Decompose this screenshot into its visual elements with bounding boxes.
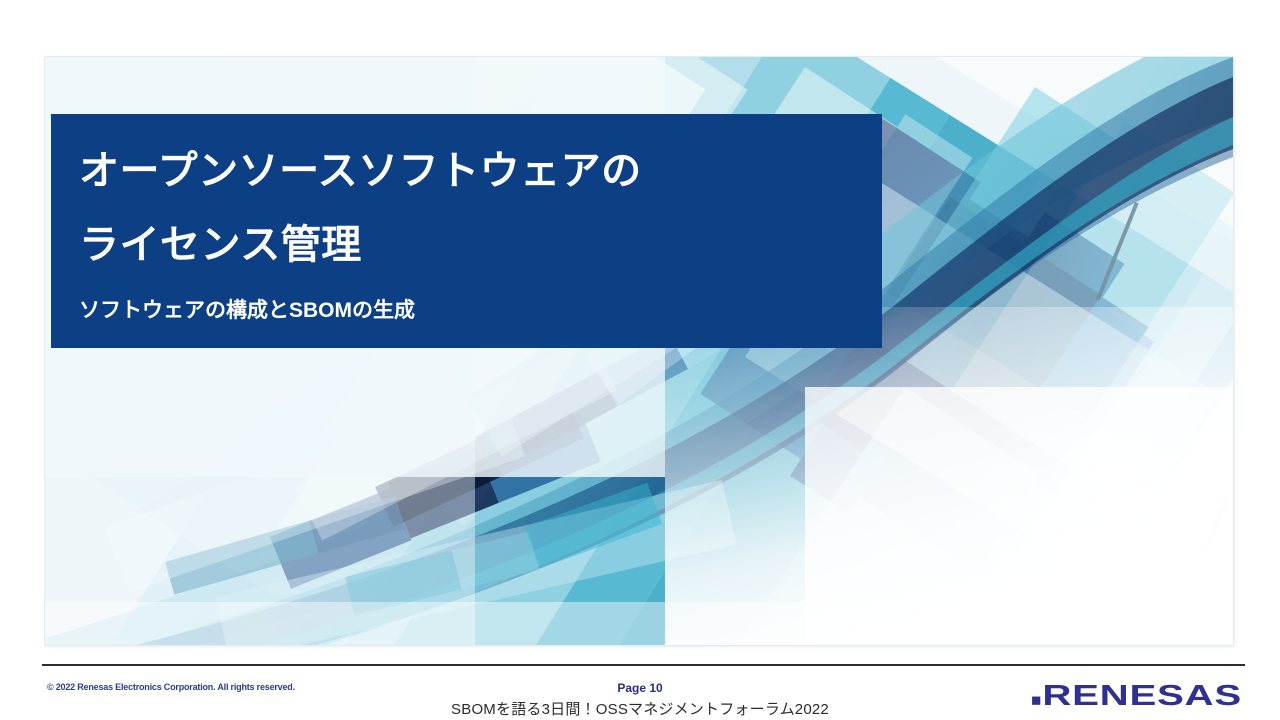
slide-title-line-1: オープンソースソフトウェアの bbox=[79, 134, 864, 208]
title-block: オープンソースソフトウェアの ライセンス管理 ソフトウェアの構成とSBOMの生成 bbox=[51, 114, 882, 348]
slide-title-line-2: ライセンス管理 bbox=[79, 208, 864, 282]
slide-subtitle: ソフトウェアの構成とSBOMの生成 bbox=[79, 296, 864, 326]
renesas-logo: RENESAS bbox=[1028, 676, 1246, 712]
svg-text:RENESAS: RENESAS bbox=[1042, 680, 1242, 712]
slide-footer: © 2022 Renesas Electronics Corporation. … bbox=[0, 666, 1280, 720]
slide-canvas: オープンソースソフトウェアの ライセンス管理 ソフトウェアの構成とSBOMの生成… bbox=[0, 0, 1280, 720]
title-text-group: オープンソースソフトウェアの ライセンス管理 ソフトウェアの構成とSBOMの生成 bbox=[79, 134, 864, 326]
